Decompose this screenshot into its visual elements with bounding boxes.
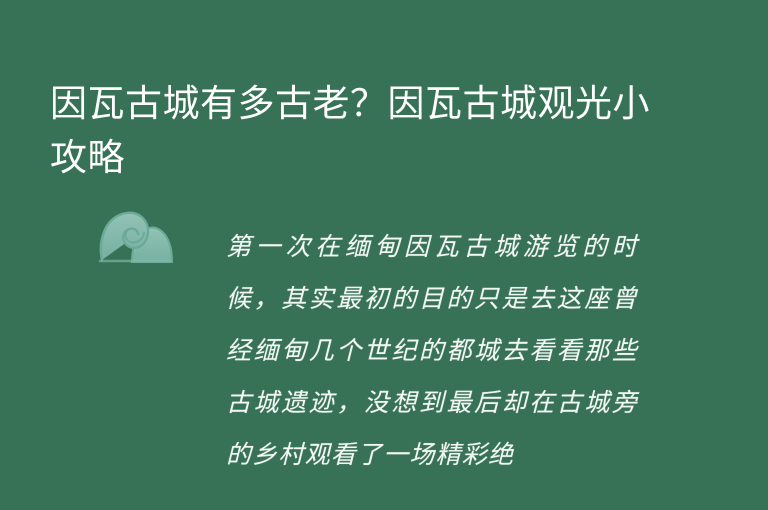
article-page: 因瓦古城有多古老？因瓦古城观光小攻略 [0, 0, 768, 510]
wave-spiral-watermark-icon [96, 202, 176, 264]
article-body: 第一次在缅甸因瓦古城游览的时候，其实最初的目的只是去这座曾经缅甸几个世纪的都城去… [0, 196, 768, 510]
page-title: 因瓦古城有多古老？因瓦古城观光小攻略 [50, 77, 650, 185]
article-paragraph-text: 第一次在缅甸因瓦古城游览的时候，其实最初的目的只是去这座曾经缅甸几个世纪的都城去… [226, 221, 638, 481]
